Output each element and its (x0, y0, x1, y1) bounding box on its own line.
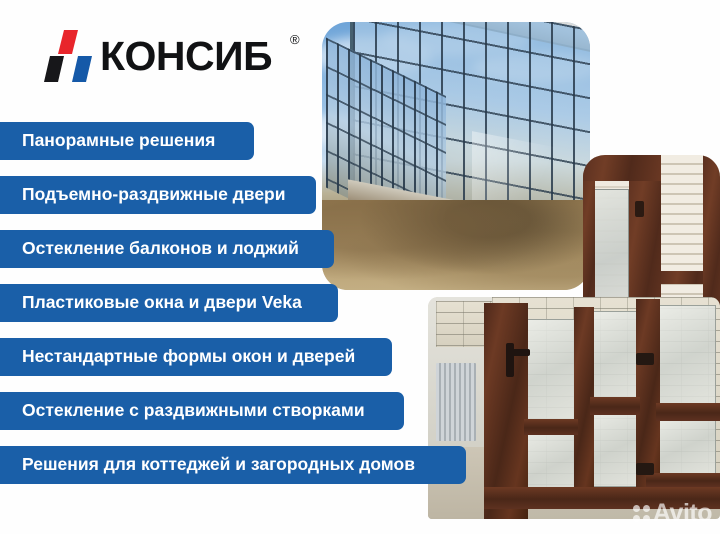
radiator (436, 363, 476, 441)
window-glass-lower-left (590, 411, 642, 487)
window-rail-left (590, 397, 640, 415)
feature-badge-veka-windows: Пластиковые окна и двери Veka (0, 284, 338, 322)
window-glass-upper-left (590, 311, 642, 403)
brand-wordmark: КОНСИБ (100, 34, 272, 78)
door-lock-plate (506, 343, 514, 377)
window-rail-lower-right (646, 473, 720, 487)
feature-badge-label: Пластиковые окна и двери Veka (22, 294, 302, 312)
window-glass-lower-right (656, 417, 716, 477)
feature-badge-lift-slide-doors: Подъемно-раздвижные двери (0, 176, 316, 214)
brand-logo: КОНСИБ ® (42, 26, 282, 86)
registered-trademark-icon: ® (290, 32, 300, 47)
window-frame-top (583, 155, 661, 181)
feature-badge-label: Остекление с раздвижными створками (22, 402, 365, 420)
window-glass-upper-right (656, 305, 716, 409)
feature-badge-label: Остекление балконов и лоджий (22, 240, 299, 258)
door-rail-middle (524, 419, 578, 435)
advertisement-canvas: КОНСИБ ® (0, 0, 720, 534)
konsib-logo-mark (42, 28, 98, 84)
feature-badge-label: Нестандартные формы окон и дверей (22, 348, 355, 366)
window-hinge-icon (636, 353, 654, 365)
feature-badge-balcony-glazing: Остекление балконов и лоджий (0, 230, 334, 268)
feature-badge-sliding-sashes: Остекление с раздвижными створками (0, 392, 404, 430)
window-hinge-icon (635, 201, 644, 217)
door-glass-upper (524, 319, 578, 423)
feature-badge-label: Панорамные решения (22, 132, 215, 150)
feature-badge-label: Подъемно-раздвижные двери (22, 186, 286, 204)
window-hinge-icon (636, 463, 654, 475)
feature-badge-panoramic: Панорамные решения (0, 122, 254, 160)
feature-badge-custom-shapes: Нестандартные формы окон и дверей (0, 338, 392, 376)
feature-badge-cottages: Решения для коттеджей и загородных домов (0, 446, 466, 484)
photo-balcony-door (428, 297, 720, 519)
window-rail-right (656, 403, 720, 421)
feature-badge-label: Решения для коттеджей и загородных домов (22, 456, 415, 474)
window-sill (484, 487, 720, 509)
photo-panoramic-glazing (322, 22, 590, 290)
construction-ground (322, 200, 590, 290)
